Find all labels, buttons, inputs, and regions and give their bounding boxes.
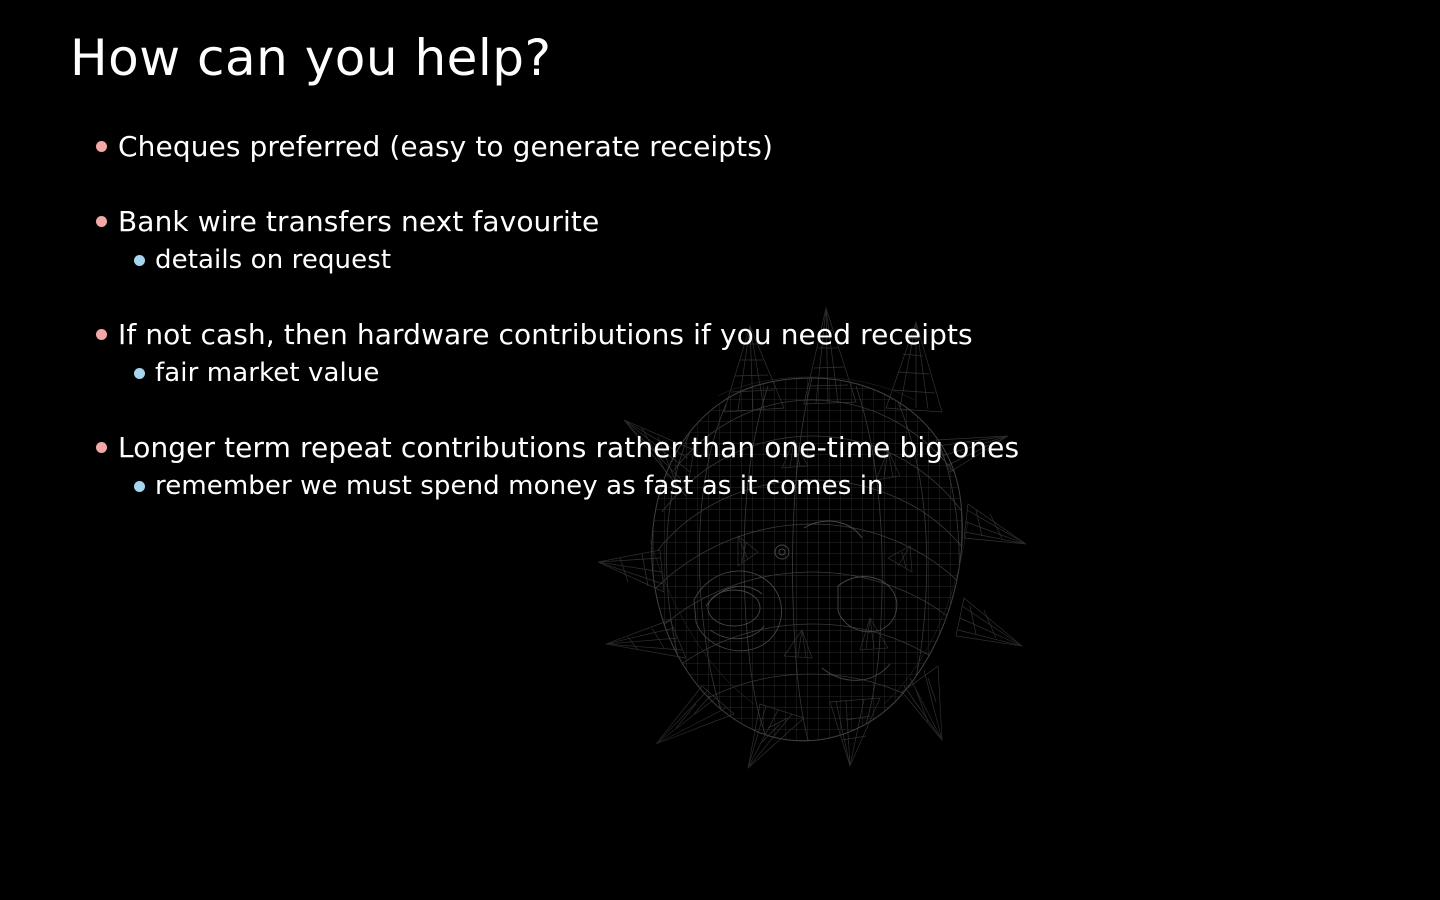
bullet-marker-icon: [96, 329, 107, 340]
bullet-group: Bank wire transfers next favourite detai…: [96, 205, 1376, 276]
slide-body: Cheques preferred (easy to generate rece…: [96, 130, 1376, 502]
bullet-group: Longer term repeat contributions rather …: [96, 431, 1376, 502]
bullet-group: Cheques preferred (easy to generate rece…: [96, 130, 1376, 163]
slide-title: How can you help?: [70, 33, 552, 83]
bullet-item: Longer term repeat contributions rather …: [96, 431, 1376, 464]
bullet-marker-icon: [96, 442, 107, 453]
sub-bullet-item: fair market value: [134, 358, 1376, 389]
bullet-item: Bank wire transfers next favourite: [96, 205, 1376, 238]
bullet-item: If not cash, then hardware contributions…: [96, 318, 1376, 351]
sub-bullet-marker-icon: [134, 368, 145, 379]
bullet-marker-icon: [96, 216, 107, 227]
bullet-marker-icon: [96, 141, 107, 152]
bullet-item: Cheques preferred (easy to generate rece…: [96, 130, 1376, 163]
sub-bullet-item: details on request: [134, 245, 1376, 276]
bullet-label: If not cash, then hardware contributions…: [118, 318, 973, 351]
bullet-label: Cheques preferred (easy to generate rece…: [118, 130, 773, 163]
sub-bullet-label: remember we must spend money as fast as …: [155, 471, 884, 502]
sub-bullet-marker-icon: [134, 255, 145, 266]
sub-bullet-label: fair market value: [155, 358, 380, 389]
bullet-label: Bank wire transfers next favourite: [118, 205, 599, 238]
sub-bullet-item: remember we must spend money as fast as …: [134, 471, 1376, 502]
bullet-label: Longer term repeat contributions rather …: [118, 431, 1019, 464]
bullet-group: If not cash, then hardware contributions…: [96, 318, 1376, 389]
presentation-slide: How can you help? Cheques preferred (eas…: [0, 0, 1440, 900]
sub-bullet-marker-icon: [134, 481, 145, 492]
sub-bullet-label: details on request: [155, 245, 391, 276]
